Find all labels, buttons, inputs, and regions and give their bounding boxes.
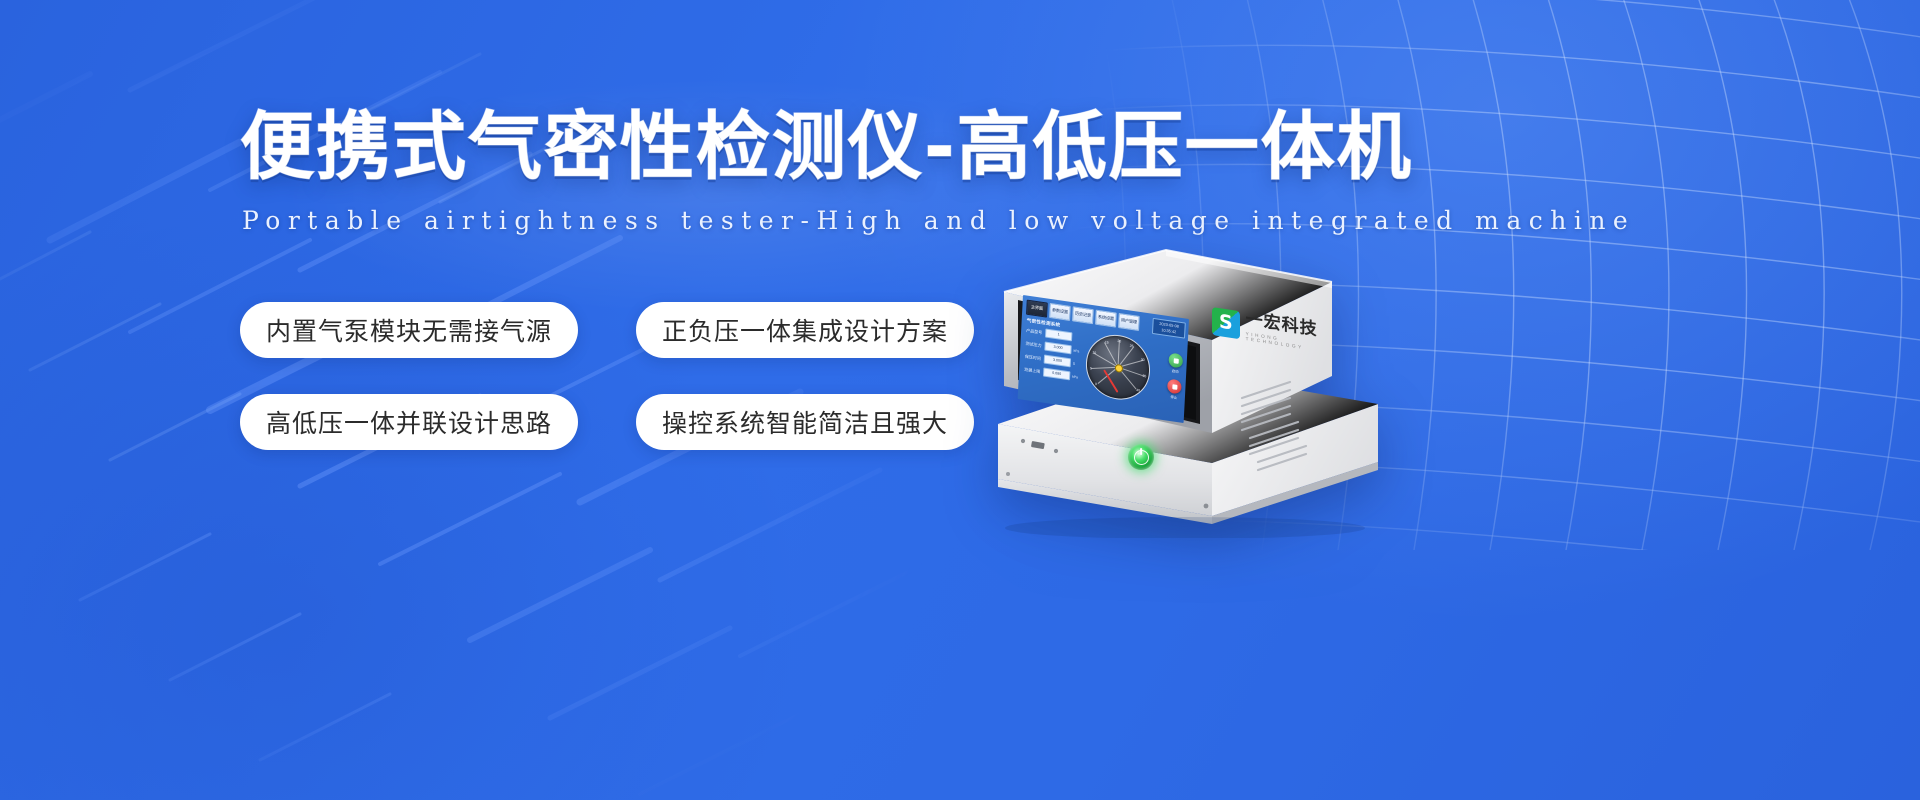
screen-clock: 2023-05-08 10:35:42 — [1152, 318, 1186, 339]
screen-start-button[interactable] — [1168, 352, 1183, 368]
hero-banner: 便携式气密性检测仪-高低压一体机 Portable airtightness t… — [0, 0, 1920, 800]
screen-field-1-unit: kPa — [1073, 348, 1079, 353]
screen-field-0-value[interactable]: 1 — [1045, 328, 1072, 341]
stop-icon — [1172, 384, 1177, 390]
gauge-tick-2: 10 — [1092, 350, 1096, 355]
page-subtitle: Portable airtightness tester-High and lo… — [242, 206, 1360, 235]
hero-copy: 便携式气密性检测仪-高低压一体机 Portable airtightness t… — [240, 110, 1360, 235]
power-button[interactable] — [1128, 444, 1154, 470]
gauge-tick-0: 0 — [1095, 382, 1097, 386]
screen-field-0-label: 产品型号 — [1026, 327, 1043, 335]
screen-field-3-unit: kPa — [1072, 374, 1078, 379]
power-icon — [1134, 450, 1149, 465]
screen-tab-3[interactable]: 系统设置 — [1095, 310, 1117, 328]
screen-start-label: 启动 — [1166, 367, 1184, 375]
feature-pill-1[interactable]: 内置气泵模块无需接气源 — [240, 302, 578, 358]
gauge-tick-6: 30 — [1141, 357, 1145, 362]
feature-pill-4[interactable]: 操控系统智能简洁且强大 — [636, 394, 974, 450]
screen-tab-0[interactable]: 主界面 — [1026, 300, 1048, 318]
gauge-tick-4: 20 — [1117, 339, 1121, 344]
brand-mark-letter: S — [1219, 313, 1233, 334]
feature-pill-3[interactable]: 高低压一体并联设计思路 — [240, 394, 578, 450]
screen-pressure-gauge: 0 5 10 15 20 25 30 35 40 — [1084, 331, 1151, 404]
feature-pill-2[interactable]: 正负压一体集成设计方案 — [636, 302, 974, 358]
screen-tab-4[interactable]: 用户管理 — [1118, 313, 1140, 331]
screen-field-3-label: 泄漏上限 — [1024, 366, 1041, 374]
screen-field-1-label: 测试压力 — [1025, 340, 1042, 348]
feature-pill-list: 内置气泵模块无需接气源 正负压一体集成设计方案 高低压一体并联设计思路 操控系统… — [240, 302, 974, 450]
brand-mark-icon: S — [1212, 307, 1240, 339]
screen-stop-label: 停止 — [1165, 393, 1183, 401]
screen-tab-2[interactable]: 历史记录 — [1072, 306, 1094, 324]
screen-field-2-value[interactable]: 3.000 — [1044, 354, 1071, 367]
product-image-airtightness-tester: 主界面 参数设置 历史记录 系统设置 用户管理 2023-05-08 10:35… — [960, 248, 1380, 538]
gauge-tick-8: 40 — [1136, 388, 1140, 393]
screen-field-2-unit: S — [1073, 361, 1075, 365]
screen-stop-button[interactable] — [1167, 378, 1182, 394]
gauge-tick-7: 35 — [1142, 374, 1146, 379]
play-icon — [1173, 358, 1178, 364]
screen-tab-1[interactable]: 参数设置 — [1049, 303, 1071, 321]
gauge-tick-3: 15 — [1105, 340, 1109, 345]
gauge-tick-5: 25 — [1130, 344, 1134, 349]
gauge-tick-1: 5 — [1090, 366, 1092, 370]
page-title: 便携式气密性检测仪-高低压一体机 — [240, 110, 1360, 184]
screen-field-2-label: 保压时间 — [1025, 353, 1042, 361]
screen-field-list: 产品型号 1 测试压力 3.000 kPa 保压时间 3.000 S 泄漏上限 … — [1024, 326, 1085, 386]
screen-field-3-value[interactable]: 0.080 — [1043, 367, 1070, 380]
brand-text: 一宏科技 YIHONG TECHNOLOGY — [1246, 311, 1340, 355]
screen-field-1-value[interactable]: 3.000 — [1044, 341, 1071, 354]
